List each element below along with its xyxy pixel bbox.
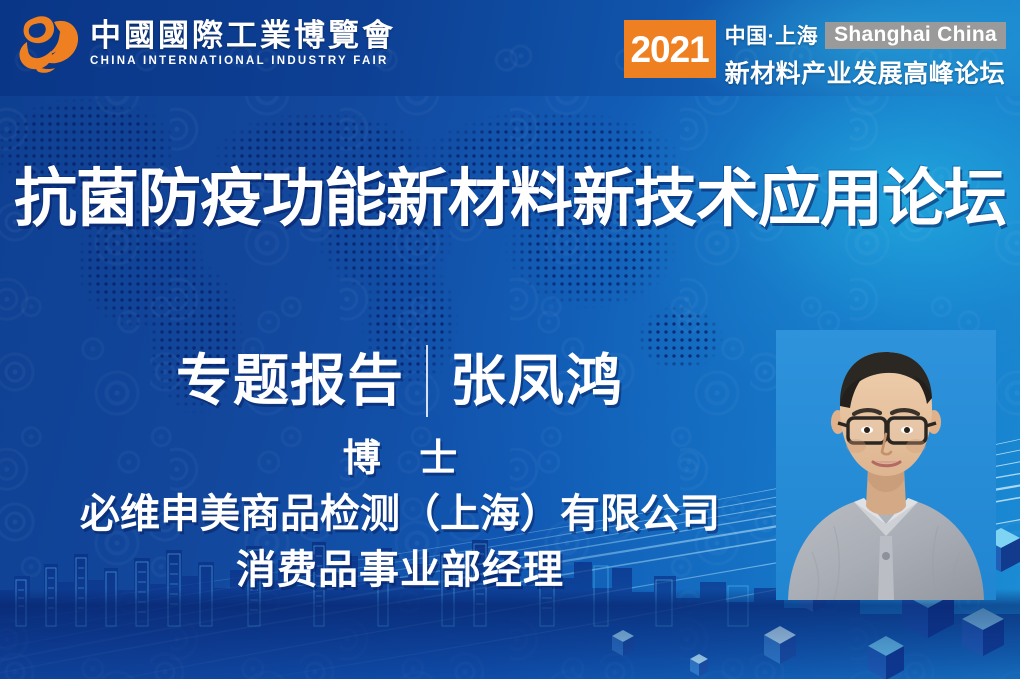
brand-name-en: CHINA INTERNATIONAL INDUSTRY FAIR — [90, 55, 396, 67]
forum-poster: 中國國際工業博覽會 CHINA INTERNATIONAL INDUSTRY F… — [0, 0, 1020, 679]
speaker-company: 必维申美商品检测（上海）有限公司 — [0, 491, 800, 538]
year-badge: 2021 — [624, 20, 716, 78]
ciif-butterfly-logo-icon — [14, 12, 82, 74]
speaker-heading-row: 专题报告 张凤鸿 — [0, 345, 800, 417]
year-text: 2021 — [630, 31, 708, 68]
main-title: 抗菌防疫功能新材料新技术应用论坛 — [0, 168, 1020, 231]
speaker-degree: 博 士 — [0, 437, 800, 482]
speaker-name: 张凤鸿 — [450, 353, 624, 409]
forum-location-cn: 中国·上海 — [725, 20, 819, 50]
forum-name-cn: 新材料产业发展高峰论坛 — [725, 54, 1006, 90]
brand-logo-text: 中國國際工業博覽會 CHINA INTERNATIONAL INDUSTRY F… — [90, 19, 396, 67]
speaker-portrait-illustration — [776, 330, 996, 600]
session-label: 专题报告 — [176, 353, 404, 409]
forum-location-en-badge: Shanghai China — [825, 22, 1006, 49]
title-name-divider — [426, 345, 428, 417]
brand-logo-block: 中國國際工業博覽會 CHINA INTERNATIONAL INDUSTRY F… — [14, 12, 396, 74]
poster-header: 中國國際工業博覽會 CHINA INTERNATIONAL INDUSTRY F… — [0, 0, 1020, 96]
forum-header-lines: 中国·上海 Shanghai China 新材料产业发展高峰论坛 — [725, 20, 1006, 90]
bottom-gradient-band — [0, 589, 1020, 679]
brand-name-cn: 中國國際工業博覽會 — [90, 19, 396, 52]
speaker-details: 博 士 必维申美商品检测（上海）有限公司 消费品事业部经理 — [0, 437, 800, 594]
speaker-role: 消费品事业部经理 — [0, 547, 800, 594]
speaker-portrait — [776, 330, 996, 600]
forum-location-row: 中国·上海 Shanghai China — [725, 20, 1006, 50]
forum-header-block: 2021 中国·上海 Shanghai China 新材料产业发展高峰论坛 — [624, 20, 1006, 90]
